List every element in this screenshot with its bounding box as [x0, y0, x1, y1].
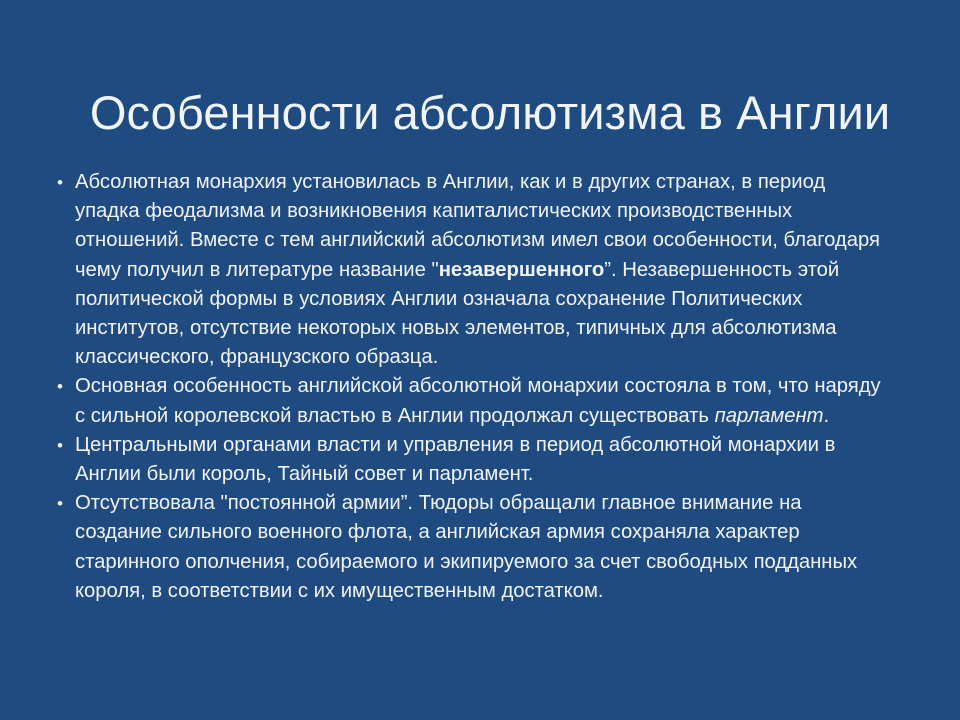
page-title: Особенности абсолютизма в Англии [60, 87, 920, 140]
list-item-text: . [823, 405, 829, 427]
bullet-point-icon: • [57, 372, 63, 401]
list-item-text: Центральными органами власти и управлени… [75, 434, 835, 485]
list-item-text: парламент [715, 405, 824, 427]
bullet-point-icon: • [57, 168, 63, 197]
list-item-text: незавершенного [439, 259, 605, 281]
slide-content-body: •Абсолютная монархия установилась в Англ… [52, 168, 892, 606]
list-item: •Основная особенность английской абсолют… [52, 372, 892, 430]
list-item: •Отсутствовала "постоянной армии”. Тюдор… [52, 489, 892, 606]
bullet-point-icon: • [57, 489, 63, 518]
list-item-text: Отсутствовала "постоянной армии”. Тюдоры… [75, 492, 857, 602]
list-item: •Абсолютная монархия установилась в Англ… [52, 168, 892, 372]
bullet-point-icon: • [57, 431, 63, 460]
list-item: •Центральными органами власти и управлен… [52, 431, 892, 489]
bullet-list: •Абсолютная монархия установилась в Англ… [52, 168, 892, 606]
presentation-slide: Особенности абсолютизма в Англии •Абсолю… [0, 0, 960, 720]
